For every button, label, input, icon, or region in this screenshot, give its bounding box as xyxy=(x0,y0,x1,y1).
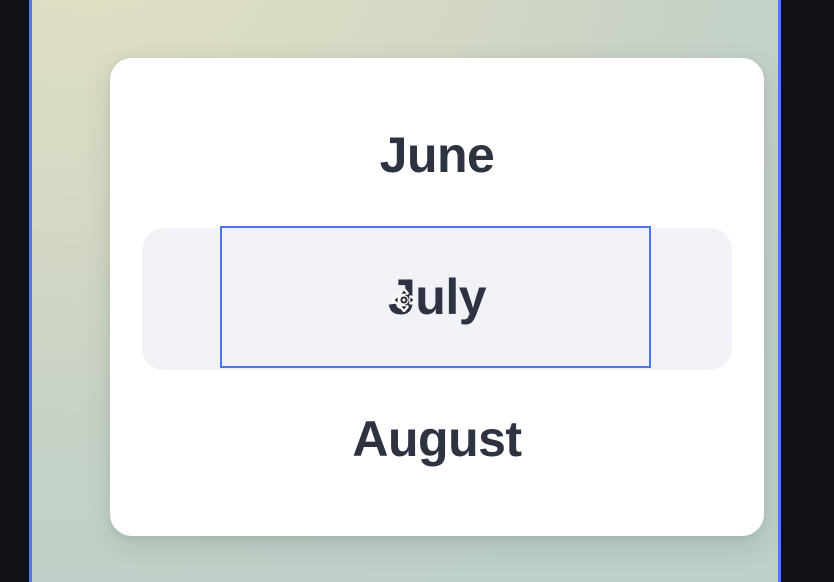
letterbox-left xyxy=(0,0,29,582)
browser-viewport: June July August xyxy=(0,0,834,582)
page-background: June July August xyxy=(32,0,778,582)
month-option-next[interactable]: August xyxy=(110,368,764,510)
month-option-selected-label: July xyxy=(388,272,486,322)
month-option-previous-label: June xyxy=(380,130,495,180)
month-picker-card: June July August xyxy=(110,58,764,536)
page-frame-border-right xyxy=(778,0,781,582)
month-option-next-label: August xyxy=(352,414,521,464)
month-option-list[interactable]: June July August xyxy=(110,58,764,536)
month-option-previous[interactable]: June xyxy=(110,84,764,226)
page-frame-border-left xyxy=(29,0,32,582)
letterbox-right xyxy=(781,0,834,582)
